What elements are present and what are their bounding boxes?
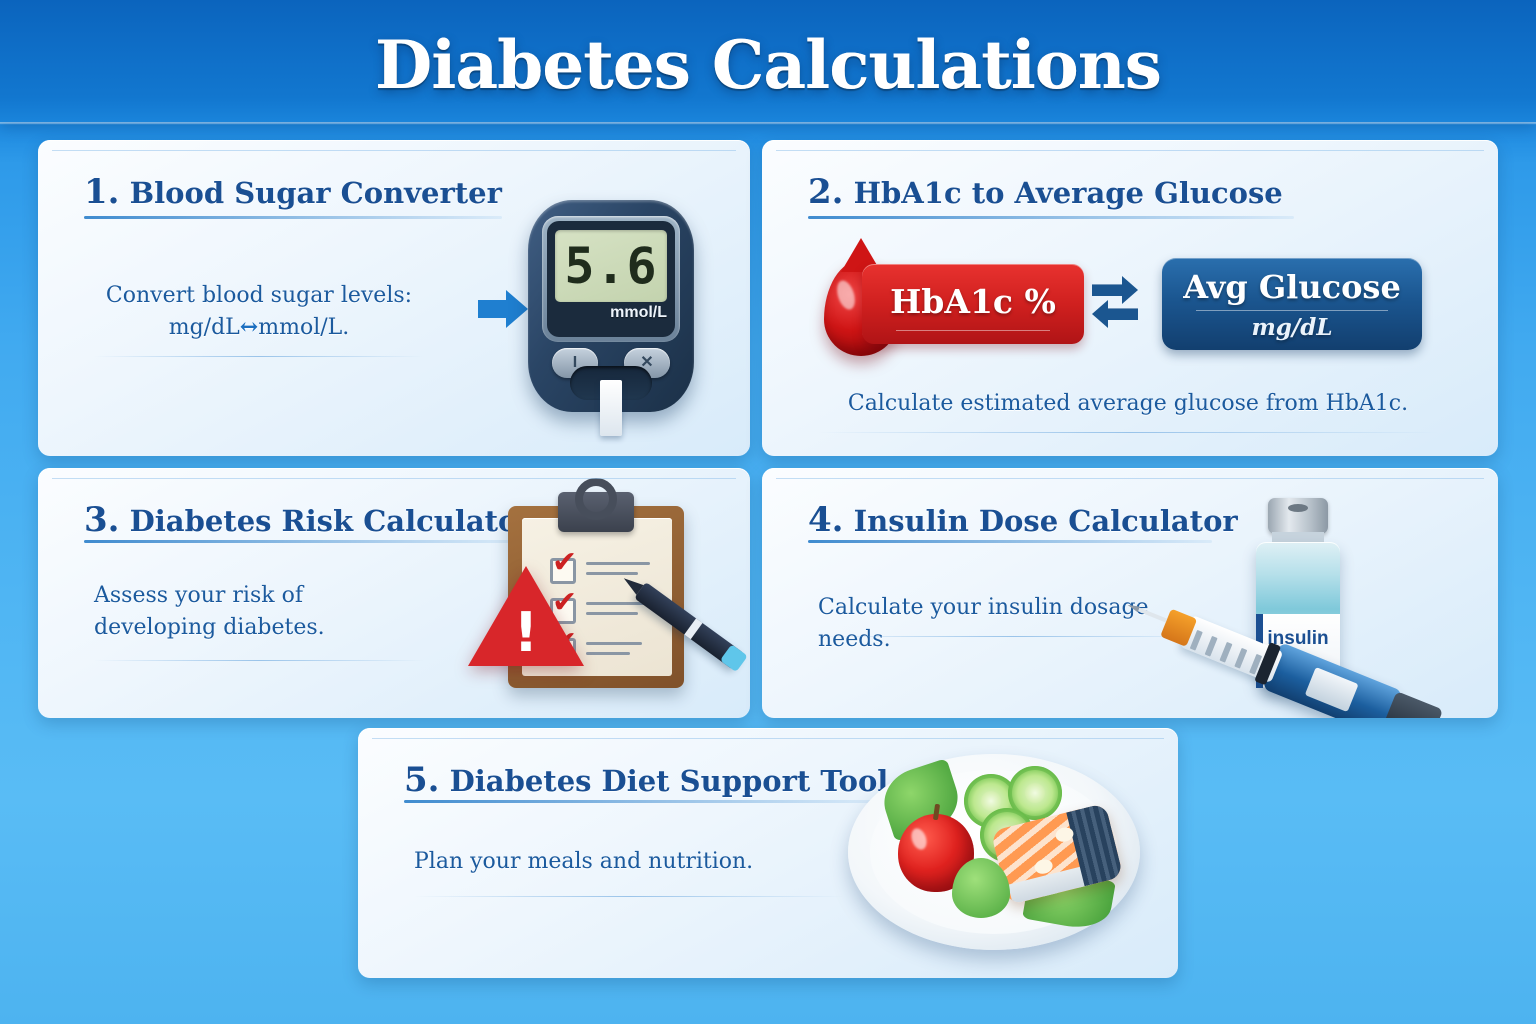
blood-drop-gloss bbox=[834, 278, 858, 311]
card-5-title: 5. Diabetes Diet Support Tool bbox=[404, 762, 888, 799]
card-3-number: 3. bbox=[84, 500, 120, 540]
apple-gloss bbox=[909, 826, 930, 851]
card-1-body-unit-right: mmol/L. bbox=[258, 315, 349, 340]
card-hba1c-to-average-glucose[interactable]: 2. HbA1c to Average Glucose HbA1c % Avg … bbox=[762, 140, 1498, 456]
card-3-title: 3. Diabetes Risk Calculator bbox=[84, 502, 533, 539]
card-diabetes-diet-support-tool[interactable]: 5. Diabetes Diet Support Tool Plan your … bbox=[358, 728, 1178, 978]
checklist-line bbox=[586, 652, 630, 655]
card-3-body: Assess your risk of developing diabetes. bbox=[94, 580, 394, 644]
page-title: Diabetes Calculations bbox=[0, 26, 1536, 104]
card-diabetes-risk-calculator[interactable]: 3. Diabetes Risk Calculator Assess your … bbox=[38, 468, 750, 718]
card-1-body-line1: Convert blood sugar levels: bbox=[84, 280, 434, 312]
card-2-title: 2. HbA1c to Average Glucose bbox=[808, 174, 1283, 211]
double-arrow-icon bbox=[1092, 278, 1138, 332]
hba1c-pill-divider bbox=[896, 330, 1050, 331]
pen-cap bbox=[720, 644, 748, 672]
insulin-pen-tick bbox=[1205, 636, 1218, 657]
card-blood-sugar-converter[interactable]: 1. Blood Sugar Converter Convert blood s… bbox=[38, 140, 750, 456]
card-4-title: 4. Insulin Dose Calculator bbox=[808, 502, 1238, 539]
card-5-number: 5. bbox=[404, 760, 440, 800]
card-1-body: Convert blood sugar levels: mg/dL↔mmol/L… bbox=[84, 280, 434, 344]
card-2-number: 2. bbox=[808, 172, 844, 212]
avg-glucose-pill: Avg Glucose mg/dL bbox=[1162, 258, 1422, 350]
card-2-title-rule bbox=[808, 216, 1294, 219]
card-4-heading: 4. Insulin Dose Calculator bbox=[808, 502, 1468, 539]
insulin-pen-tick bbox=[1219, 642, 1232, 663]
card-5-title-text: Diabetes Diet Support Tool bbox=[450, 764, 889, 798]
card-5-body-rule bbox=[414, 896, 844, 897]
card-1-body-unit-left: mg/dL bbox=[169, 315, 240, 340]
healthy-plate-icon bbox=[848, 754, 1148, 954]
warning-exclamation: ! bbox=[468, 606, 584, 660]
card-4-body-text: Calculate your insulin dosage needs. bbox=[818, 592, 1198, 656]
card-4-number: 4. bbox=[808, 500, 844, 540]
header-divider bbox=[0, 122, 1536, 125]
avg-glucose-pill-label: Avg Glucose bbox=[1162, 268, 1422, 306]
card-2-body-text: Calculate estimated average glucose from… bbox=[808, 388, 1448, 420]
card-4-body-rule bbox=[818, 636, 1208, 637]
glucometer-test-strip bbox=[600, 380, 622, 436]
card-5-body: Plan your meals and nutrition. bbox=[414, 846, 854, 878]
card-3-body-line2: developing diabetes. bbox=[94, 612, 394, 644]
glucometer-lcd: 5.6 bbox=[555, 230, 667, 302]
card-3-title-text: Diabetes Risk Calculator bbox=[130, 504, 533, 538]
checklist-line bbox=[586, 562, 650, 565]
infographic-poster: Diabetes Calculations 1. Blood Sugar Con… bbox=[0, 0, 1536, 1024]
checklist-line bbox=[586, 612, 638, 615]
bidirectional-arrow-icon: ↔ bbox=[240, 314, 258, 340]
card-5-title-rule bbox=[404, 800, 876, 803]
hba1c-pill-label: HbA1c % bbox=[862, 282, 1084, 321]
avg-glucose-pill-unit: mg/dL bbox=[1162, 314, 1422, 341]
vial-cap bbox=[1268, 498, 1328, 534]
card-3-body-rule bbox=[94, 660, 424, 661]
card-2-title-text: HbA1c to Average Glucose bbox=[854, 176, 1283, 210]
double-arrow-bottom bbox=[1108, 308, 1138, 320]
avg-glucose-pill-divider bbox=[1196, 310, 1388, 311]
card-4-title-rule bbox=[808, 540, 1212, 543]
card-1-title: 1. Blood Sugar Converter bbox=[84, 174, 502, 211]
arrow-right-icon bbox=[478, 300, 506, 318]
card-1-title-rule bbox=[84, 216, 502, 219]
card-2-body-rule bbox=[818, 432, 1438, 433]
checklist-line bbox=[586, 642, 642, 645]
card-1-title-text: Blood Sugar Converter bbox=[130, 176, 502, 210]
card-3-body-line1: Assess your risk of bbox=[94, 580, 394, 612]
clipboard-clip bbox=[558, 492, 634, 532]
card-1-number: 1. bbox=[84, 172, 120, 212]
card-2-body: Calculate estimated average glucose from… bbox=[808, 388, 1448, 420]
glucometer-icon: 5.6 mmol/L I ✕ bbox=[528, 200, 708, 450]
warning-triangle-icon: ! bbox=[468, 566, 584, 670]
glucometer-reading: 5.6 bbox=[555, 234, 667, 298]
card-3-title-rule bbox=[84, 540, 514, 543]
insulin-pen-tick bbox=[1190, 630, 1203, 651]
hba1c-pill: HbA1c % bbox=[862, 264, 1084, 344]
card-insulin-dose-calculator[interactable]: 4. Insulin Dose Calculator Calculate you… bbox=[762, 468, 1498, 718]
check-icon: ✔ bbox=[552, 548, 574, 568]
card-4-body: Calculate your insulin dosage needs. bbox=[818, 592, 1198, 656]
card-4-title-text: Insulin Dose Calculator bbox=[854, 504, 1238, 538]
card-5-body-text: Plan your meals and nutrition. bbox=[414, 846, 854, 878]
card-1-body-rule bbox=[94, 356, 424, 357]
pen-band bbox=[684, 618, 702, 639]
glucometer-unit: mmol/L bbox=[555, 304, 667, 322]
insulin-pen-tick bbox=[1234, 648, 1247, 669]
double-arrow-top bbox=[1092, 284, 1122, 296]
card-2-heading: 2. HbA1c to Average Glucose bbox=[808, 174, 1468, 211]
